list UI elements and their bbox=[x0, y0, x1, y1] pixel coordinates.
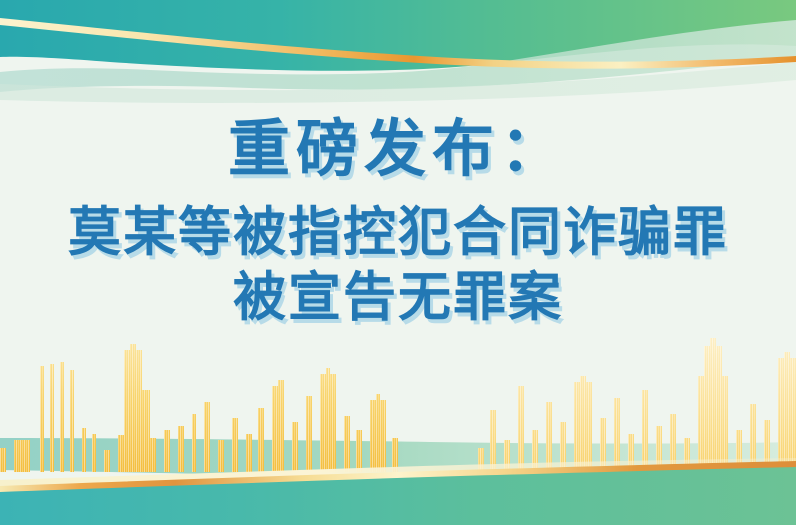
bottom-wave-front bbox=[0, 330, 796, 525]
poster-text-block: 重磅发布： 莫某等被指控犯合同诈骗罪 被宣告无罪案 bbox=[0, 118, 796, 324]
subtitle-line-1: 莫某等被指控犯合同诈骗罪 bbox=[0, 206, 796, 259]
poster-canvas: 重磅发布： 莫某等被指控犯合同诈骗罪 被宣告无罪案 bbox=[0, 0, 796, 525]
top-wave-svg bbox=[0, 0, 796, 105]
subtitle-line-2: 被宣告无罪案 bbox=[0, 271, 796, 324]
bottom-front-svg bbox=[0, 330, 796, 525]
page-title: 重磅发布： bbox=[0, 118, 796, 180]
top-wave-banner bbox=[0, 0, 796, 105]
